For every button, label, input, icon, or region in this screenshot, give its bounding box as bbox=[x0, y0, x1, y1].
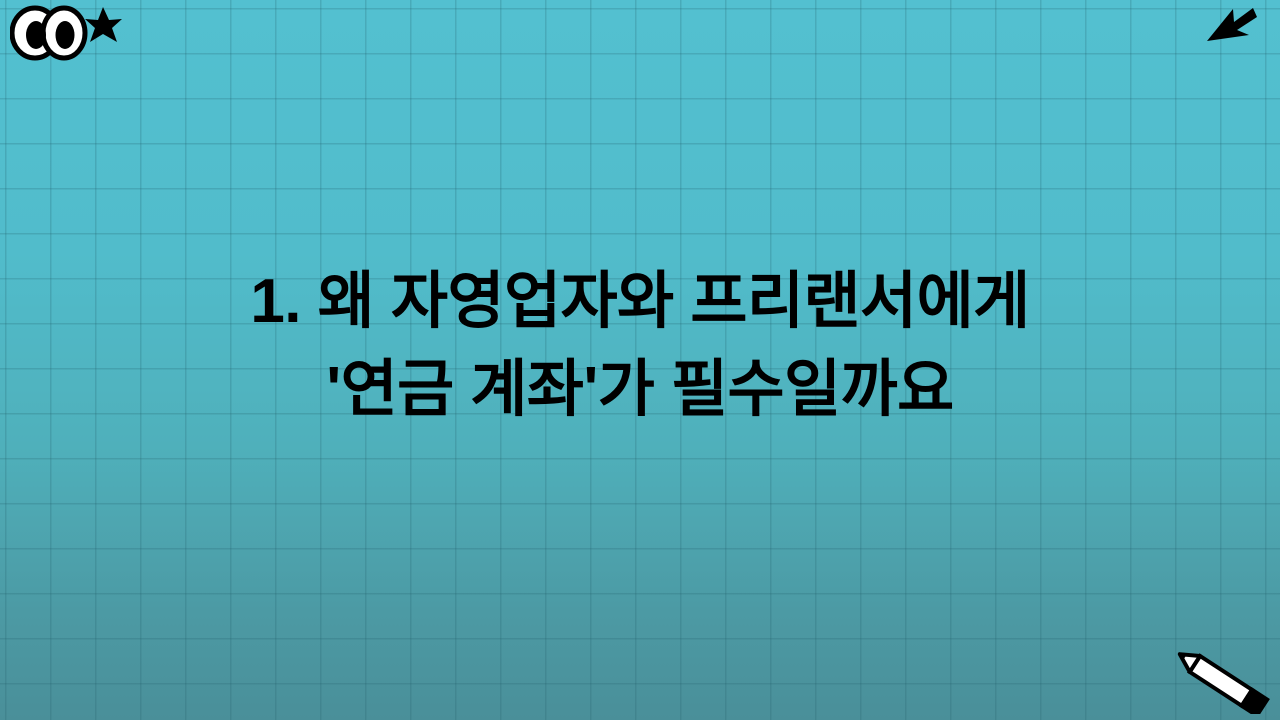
arrow-icon bbox=[1203, 5, 1259, 55]
page-title: 1. 왜 자영업자와 프리랜서에게 '연금 계좌'가 필수일까요 bbox=[0, 258, 1280, 434]
pencil-icon bbox=[1168, 648, 1276, 719]
slide-canvas: 1. 왜 자영업자와 프리랜서에게 '연금 계좌'가 필수일까요 bbox=[0, 0, 1280, 720]
eyes-icon bbox=[10, 4, 88, 67]
star-icon bbox=[82, 4, 124, 51]
